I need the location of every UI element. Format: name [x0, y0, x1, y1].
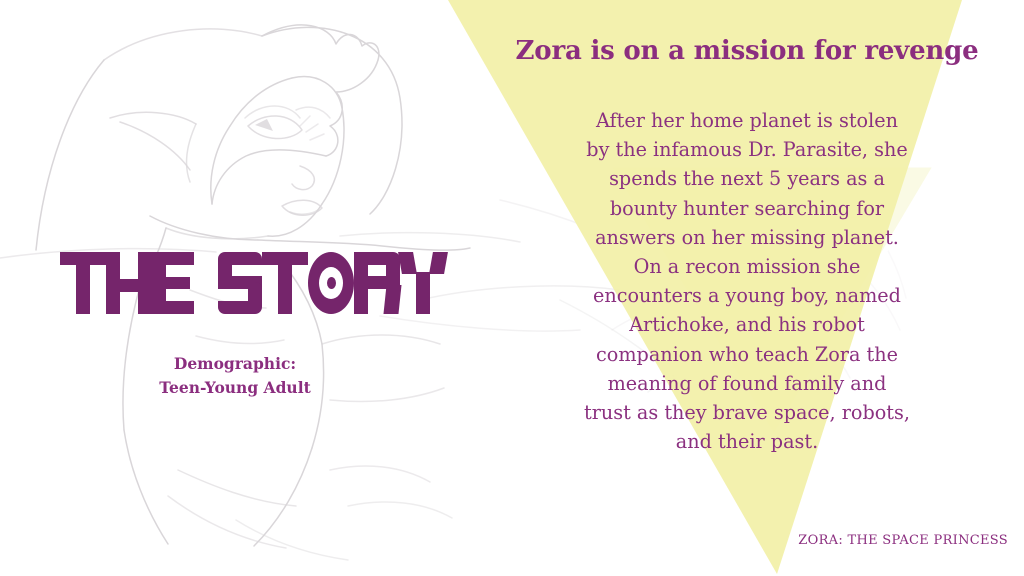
footer-project-label: ZORA: THE SPACE PRINCESS — [0, 533, 1008, 548]
glyph-T — [60, 252, 106, 314]
glyph-S — [216, 252, 262, 314]
glyph-Y — [400, 252, 446, 314]
body-line-8: companion who teach Zora the — [527, 340, 967, 369]
body-line-10: trust as they brave space, robots, — [527, 398, 967, 427]
body-line-4: answers on her missing planet. — [527, 223, 967, 252]
demographic-block: Demographic: Teen-Young Adult — [60, 352, 410, 400]
body-line-5: On a recon mission she — [527, 252, 967, 281]
body-line-6: encounters a young boy, named — [527, 281, 967, 310]
headline: Zora is on a mission for revenge — [470, 36, 1024, 66]
right-column: Zora is on a mission for revenge After h… — [470, 0, 1024, 576]
glyph-space — [194, 252, 216, 314]
left-column: THE STORY — [0, 0, 470, 576]
section-title-glyphs — [60, 252, 446, 314]
glyph-O-dotted — [308, 252, 354, 314]
body-line-2: spends the next 5 years as a — [527, 164, 967, 193]
slide-canvas: THE STORY — [0, 0, 1024, 576]
glyph-E — [152, 252, 194, 314]
glyph-T-2 — [262, 252, 308, 314]
demographic-label: Demographic: — [60, 352, 410, 376]
body-line-9: meaning of found family and — [527, 369, 967, 398]
body-line-0: After her home planet is stolen — [527, 106, 967, 135]
body-line-1: by the infamous Dr. Parasite, she — [527, 135, 967, 164]
glyph-R — [354, 252, 400, 314]
body-line-7: Artichoke, and his robot — [527, 310, 967, 339]
glyph-H — [106, 252, 152, 314]
body-line-11: and their past. — [527, 427, 967, 456]
story-body-copy: After her home planet is stolenby the in… — [527, 106, 967, 456]
body-line-3: bounty hunter searching for — [527, 194, 967, 223]
section-title: THE STORY — [60, 252, 446, 314]
demographic-value: Teen-Young Adult — [60, 376, 410, 400]
